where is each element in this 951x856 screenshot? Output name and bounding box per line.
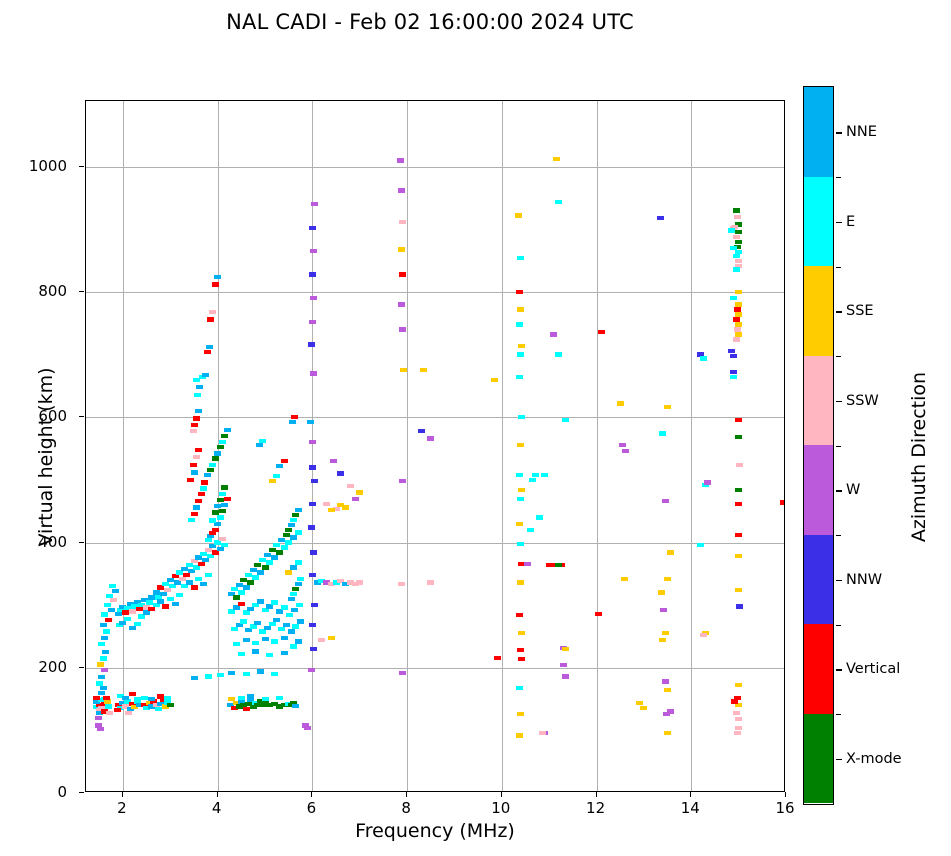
y-axis-title: Virtual height (km) (35, 327, 57, 587)
echo-point (292, 624, 299, 628)
echo-point (310, 550, 317, 554)
echo-point (217, 547, 224, 551)
echo-point (780, 500, 785, 504)
echo-point (103, 629, 110, 633)
echo-point (347, 484, 354, 488)
y-tick-mark (79, 667, 84, 668)
colorbar-tick-mark (836, 490, 842, 491)
echo-point (205, 674, 212, 678)
echo-point (209, 463, 216, 467)
echo-point (734, 731, 741, 735)
echo-point (290, 592, 297, 596)
echo-point (733, 267, 740, 271)
echo-point (276, 696, 283, 700)
echo-point (735, 717, 742, 721)
echo-point (240, 619, 247, 623)
echo-point (157, 599, 164, 603)
echo-point (730, 375, 737, 379)
echo-point (129, 626, 136, 630)
y-tick-mark (79, 792, 84, 793)
echo-point (212, 282, 219, 286)
echo-point (397, 158, 404, 162)
colorbar-tick-mark (836, 132, 842, 133)
echo-point (309, 623, 316, 627)
echo-point (398, 247, 405, 251)
echo-point (399, 671, 406, 675)
echo-point (735, 240, 742, 244)
echo-point (122, 696, 129, 700)
echo-point (243, 585, 250, 589)
echo-point (264, 553, 271, 557)
echo-point (100, 623, 107, 627)
echo-point (555, 352, 562, 356)
echo-point (553, 157, 560, 161)
echo-point (264, 626, 271, 630)
echo-point (98, 691, 105, 695)
echo-point (97, 662, 104, 666)
echo-point (700, 356, 707, 360)
echo-point (733, 337, 740, 341)
echo-point (93, 696, 100, 700)
echo-point (134, 622, 141, 626)
echo-point (259, 439, 266, 443)
echo-point (129, 609, 136, 613)
x-tick-label: 4 (212, 799, 222, 817)
echo-point (224, 497, 231, 501)
echo-point (266, 560, 273, 564)
echo-point (516, 686, 523, 690)
x-tick-label: 16 (775, 799, 794, 817)
echo-point (221, 543, 228, 547)
colorbar-segment-e[interactable] (804, 177, 833, 267)
echo-point (181, 567, 188, 571)
echo-point (167, 597, 174, 601)
echo-point (281, 545, 288, 549)
echo-point (103, 696, 110, 700)
echo-point (193, 455, 200, 459)
echo-point (193, 505, 200, 509)
echo-point (217, 515, 224, 519)
echo-point (276, 464, 283, 468)
echo-point (518, 631, 525, 635)
echo-point (731, 699, 738, 703)
echo-point (257, 669, 264, 673)
echo-point (172, 602, 179, 606)
echo-point (281, 605, 288, 609)
echo-point (101, 612, 108, 616)
echo-point (400, 368, 407, 372)
echo-point (735, 554, 742, 558)
echo-point (735, 332, 742, 336)
echo-point (550, 332, 557, 336)
colorbar-segment-nne[interactable] (804, 87, 833, 177)
echo-point (141, 696, 148, 700)
echo-point (664, 731, 671, 735)
echo-point (290, 535, 297, 539)
echo-point (164, 696, 171, 700)
echo-point (491, 378, 498, 382)
echo-point (191, 559, 198, 563)
echo-point (342, 505, 349, 509)
echo-point (233, 595, 240, 599)
echo-point (517, 580, 524, 584)
echo-point (733, 254, 740, 258)
colorbar-segment-vertical[interactable] (804, 624, 833, 714)
echo-point (164, 588, 171, 592)
echo-point (735, 290, 742, 294)
echo-point (187, 478, 194, 482)
echo-point (174, 580, 181, 584)
echo-point (221, 434, 228, 438)
echo-point (238, 590, 245, 594)
echo-point (219, 492, 226, 496)
colorbar-tick-mark (836, 401, 842, 402)
echo-point (562, 647, 569, 651)
y-tick-mark (79, 291, 84, 292)
echo-point (269, 479, 276, 483)
echo-point (427, 436, 434, 440)
echo-point (296, 603, 303, 607)
echo-point (262, 697, 269, 701)
echo-point (516, 322, 523, 326)
echo-point (262, 565, 269, 569)
echo-point (297, 577, 304, 581)
echo-point (735, 230, 742, 234)
echo-point (295, 530, 302, 534)
colorbar-label-e: E (846, 214, 855, 230)
echo-point (697, 543, 704, 547)
echo-point (157, 694, 164, 698)
echo-point (209, 544, 216, 548)
echo-point (664, 405, 671, 409)
colorbar-label-ssw: SSW (846, 393, 879, 409)
echo-point (704, 480, 711, 484)
echo-point (188, 518, 195, 522)
echo-point (735, 502, 742, 506)
echo-point (337, 471, 344, 475)
colorbar-boundary-tick (836, 446, 841, 447)
echo-point (308, 342, 315, 346)
echo-point (191, 423, 198, 427)
echo-point (124, 617, 131, 621)
echo-point (595, 612, 602, 616)
echo-point (659, 638, 666, 642)
echo-point (238, 652, 245, 656)
echo-point (292, 704, 299, 708)
colorbar-boundary-tick (836, 267, 841, 268)
echo-point (730, 296, 737, 300)
echo-point (190, 463, 197, 467)
echo-point (292, 587, 299, 591)
echo-point (735, 435, 742, 439)
echo-point (734, 215, 741, 219)
colorbar-segment-ssw[interactable] (804, 356, 833, 446)
echo-point (134, 697, 141, 701)
echo-point (101, 636, 108, 640)
echo-point (195, 448, 202, 452)
y-tick-mark (79, 166, 84, 167)
plot-area (85, 100, 785, 792)
echo-point (658, 590, 665, 594)
echo-point (657, 216, 664, 220)
echo-point (356, 490, 363, 494)
echo-point (105, 618, 112, 622)
echo-point (209, 531, 216, 535)
echo-point (122, 610, 129, 614)
echo-point (517, 256, 524, 260)
echo-point (136, 607, 143, 611)
colorbar-tick-mark (836, 759, 842, 760)
echo-point (201, 480, 208, 484)
echo-point (323, 502, 330, 506)
echo-point (104, 603, 111, 607)
echo-point (289, 420, 296, 424)
colorbar-boundary-tick (836, 356, 841, 357)
echo-point (517, 648, 524, 652)
echo-point (560, 663, 567, 667)
echo-point (269, 548, 276, 552)
echo-point (190, 429, 197, 433)
echo-point (278, 538, 285, 542)
echo-point (728, 228, 735, 232)
echo-point (517, 352, 524, 356)
colorbar-segment-w[interactable] (804, 445, 833, 535)
echo-point (146, 600, 153, 604)
echo-point (308, 668, 315, 672)
colorbar-tick-mark (836, 311, 842, 312)
echo-point (730, 370, 737, 374)
echo-point (252, 575, 259, 579)
echo-point (204, 473, 211, 477)
x-tick-label: 14 (681, 799, 700, 817)
echo-point (518, 344, 525, 348)
colorbar[interactable] (803, 86, 834, 805)
x-tick-mark (785, 792, 786, 797)
echo-point (736, 604, 743, 608)
echo-point (290, 644, 297, 648)
echo-point (191, 470, 198, 474)
echo-point (271, 672, 278, 676)
echo-point (200, 552, 207, 556)
echo-point (662, 631, 669, 635)
echo-point (236, 583, 243, 587)
echo-point (309, 320, 316, 324)
colorbar-tick-mark (836, 222, 842, 223)
echo-point (309, 226, 316, 230)
echo-point (517, 307, 524, 311)
echo-point (125, 711, 132, 715)
echo-point (157, 585, 164, 589)
echo-point (311, 202, 318, 206)
colorbar-title: Azimuth Direction (908, 327, 930, 587)
echo-point (200, 486, 207, 490)
echo-point (664, 577, 671, 581)
echo-point (546, 563, 553, 567)
echo-point (254, 621, 261, 625)
echo-point (295, 508, 302, 512)
echo-point (663, 712, 670, 716)
echo-point (640, 706, 647, 710)
echo-point (205, 573, 212, 577)
echo-point (310, 296, 317, 300)
echo-point (262, 637, 269, 641)
echo-point (735, 259, 742, 263)
echo-point (273, 474, 280, 478)
echo-point (273, 543, 280, 547)
echo-point (193, 565, 200, 569)
echo-point (104, 699, 111, 703)
echo-point (309, 502, 316, 506)
echo-point (662, 679, 669, 683)
echo-point (283, 623, 290, 627)
echo-point (318, 638, 325, 642)
echo-point (598, 330, 605, 334)
echo-point (735, 312, 742, 316)
echo-point (271, 600, 278, 604)
echo-point (356, 580, 363, 584)
echo-point (271, 639, 278, 643)
echo-point (286, 613, 293, 617)
colorbar-segment-sse[interactable] (804, 266, 833, 356)
echo-point (517, 497, 524, 501)
echo-point (529, 478, 536, 482)
echo-point (304, 726, 311, 730)
echo-point (98, 642, 105, 646)
echo-point (250, 568, 257, 572)
echo-point (295, 560, 302, 564)
echo-point (105, 704, 112, 708)
echo-point (541, 473, 548, 477)
colorbar-segment-nnw[interactable] (804, 535, 833, 625)
echo-point (217, 445, 224, 449)
colorbar-boundary-tick (836, 177, 841, 178)
y-tick-label: 1000 (29, 157, 67, 175)
echo-point (193, 416, 200, 420)
x-tick-mark (406, 792, 407, 797)
echo-point (281, 651, 288, 655)
echo-point (247, 607, 254, 611)
echo-point (660, 608, 667, 612)
colorbar-label-nne: NNE (846, 124, 877, 140)
echo-point (102, 650, 109, 654)
colorbar-label-vertical: Vertical (846, 661, 900, 677)
colorbar-segment-x-mode[interactable] (804, 714, 833, 804)
echo-point (240, 578, 247, 582)
echo-point (202, 373, 209, 377)
echo-point (288, 629, 295, 633)
echo-point (283, 533, 290, 537)
echo-point (518, 657, 525, 661)
echo-point (114, 708, 121, 712)
echo-point (420, 368, 427, 372)
echo-point (219, 537, 226, 541)
colorbar-label-sse: SSE (846, 303, 874, 319)
echo-point (285, 528, 292, 532)
echo-point (205, 538, 212, 542)
echo-point (97, 727, 104, 731)
echo-point (517, 542, 524, 546)
echo-point (176, 570, 183, 574)
colorbar-tick-mark (836, 580, 842, 581)
y-tick-label: 0 (57, 783, 67, 801)
echo-point (100, 656, 107, 660)
echo-point (399, 479, 406, 483)
echo-point (191, 512, 198, 516)
x-tick-label: 6 (307, 799, 317, 817)
echo-point (555, 563, 562, 567)
echo-point (176, 593, 183, 597)
echo-point (276, 609, 283, 613)
echo-point (106, 711, 113, 715)
echo-point (214, 275, 221, 279)
echo-point (243, 638, 250, 642)
echo-point (399, 272, 406, 276)
x-tick-mark (217, 792, 218, 797)
echo-point (112, 589, 119, 593)
echo-point (221, 503, 228, 507)
echo-point (167, 578, 174, 582)
echo-point (309, 440, 316, 444)
echo-point (148, 607, 155, 611)
echo-point (108, 608, 115, 612)
colorbar-label-w: W (846, 482, 860, 498)
echo-point (735, 726, 742, 730)
echo-point (518, 488, 525, 492)
echo-point (418, 429, 425, 433)
echo-point (191, 585, 198, 589)
echo-point (138, 614, 145, 618)
echo-point (700, 633, 707, 637)
echo-point (217, 498, 224, 502)
colorbar-label-nnw: NNW (846, 572, 882, 588)
echo-point (162, 604, 169, 608)
echo-point (281, 636, 288, 640)
echo-point (291, 415, 298, 419)
echo-point (295, 582, 302, 586)
echo-point (221, 485, 228, 489)
echo-point (183, 573, 190, 577)
echo-point (664, 688, 671, 692)
echo-point (636, 701, 643, 705)
echo-point (309, 573, 316, 577)
echo-point (209, 518, 216, 522)
echo-point (308, 525, 315, 529)
echo-point (100, 686, 107, 690)
echo-point (619, 443, 626, 447)
echo-point (110, 598, 117, 602)
echo-point (734, 327, 741, 331)
echo-point (516, 375, 523, 379)
echo-point (309, 272, 316, 276)
echo-point (728, 349, 735, 353)
echo-point (219, 440, 226, 444)
echo-point (254, 563, 261, 567)
scatter-data-layer (86, 101, 784, 791)
echo-point (195, 577, 202, 581)
echo-point (291, 608, 298, 612)
echo-point (518, 415, 525, 419)
echo-point (307, 420, 314, 424)
colorbar-boundary-tick (836, 625, 841, 626)
echo-point (285, 540, 292, 544)
echo-point (532, 473, 539, 477)
echo-point (281, 459, 288, 463)
echo-point (398, 302, 405, 306)
echo-point (219, 509, 226, 513)
echo-point (198, 492, 205, 496)
echo-point (115, 612, 122, 616)
echo-point (238, 696, 245, 700)
